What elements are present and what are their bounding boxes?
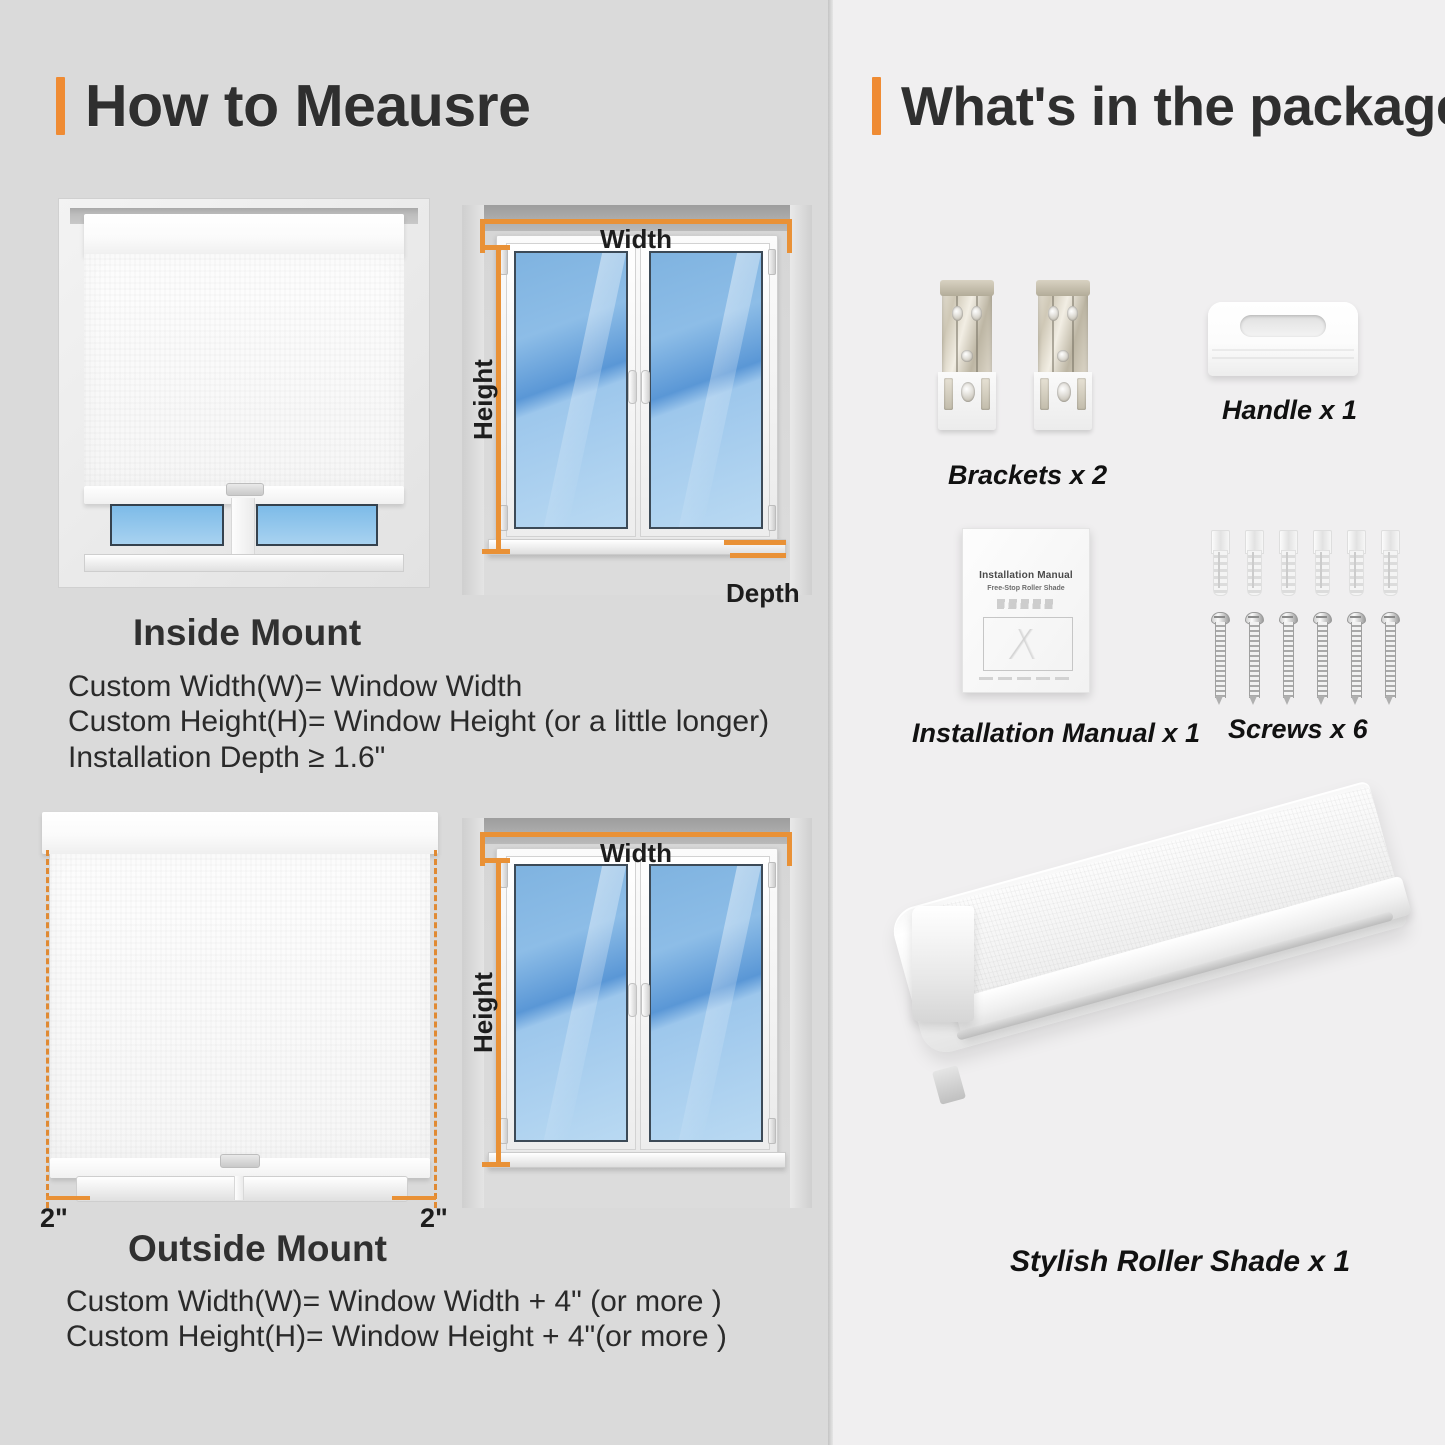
wall-anchor-icon xyxy=(1312,530,1331,594)
anchor-split xyxy=(1388,552,1390,588)
screw-shank xyxy=(1249,622,1260,698)
screw-slot xyxy=(1384,616,1395,618)
shade-fabric xyxy=(84,254,404,488)
brackets-label: Brackets x 2 xyxy=(948,460,1107,491)
bracket-slot xyxy=(944,378,953,410)
height-measure-cap-bottom xyxy=(482,549,510,554)
depth-label: Depth xyxy=(726,578,800,609)
screw-slot xyxy=(1350,616,1361,618)
installation-manual-label: Installation Manual x 1 xyxy=(912,718,1200,749)
height-measure-cap-top xyxy=(482,858,510,863)
anchor-split xyxy=(1286,552,1288,588)
handle-body xyxy=(1208,302,1358,376)
screw-shank xyxy=(1317,622,1328,698)
handle-label: Handle x 1 xyxy=(1222,395,1357,426)
screw-tip xyxy=(1249,696,1257,705)
glass-sheen xyxy=(544,866,626,1140)
handle-icon xyxy=(1208,302,1358,376)
window-hinge-top-left xyxy=(500,862,508,888)
anchor-split xyxy=(1320,552,1322,588)
glass-sheen xyxy=(679,253,761,527)
inside-mount-spec-2: Custom Height(H)= Window Height (or a li… xyxy=(68,705,769,739)
screw-slot xyxy=(1214,616,1225,618)
bracket-top-flange xyxy=(940,280,994,296)
anchor-split xyxy=(1252,552,1254,588)
bracket-icon xyxy=(938,280,996,430)
manual-cover-subtitle: Free-Stop Roller Shade xyxy=(963,585,1089,592)
bracket-slot xyxy=(1040,378,1049,410)
screw-icon xyxy=(1381,612,1398,704)
outside-mount-shade-illustration xyxy=(42,812,438,1202)
window-sill xyxy=(84,554,404,572)
window-handle-right xyxy=(641,983,650,1017)
window-hinge-top xyxy=(768,249,776,275)
window-glass-left xyxy=(514,251,628,529)
handle-grip-slot xyxy=(1240,315,1326,337)
screw-tip xyxy=(1385,696,1393,705)
package-heading: What's in the package xyxy=(872,74,1445,138)
screw-icon xyxy=(1313,612,1330,704)
manual-cover-sketch xyxy=(1001,629,1043,659)
anchor-body xyxy=(1247,550,1262,596)
screw-icon xyxy=(1279,612,1296,704)
window-sill xyxy=(488,1152,786,1168)
window-mullion xyxy=(231,498,255,558)
handle-groove xyxy=(1212,349,1354,351)
depth-measure-line-2 xyxy=(730,553,786,558)
bracket-hole xyxy=(1067,306,1078,321)
screw-icon xyxy=(1245,612,1262,704)
bracket-hole xyxy=(952,306,963,321)
wall-anchor-icon xyxy=(1278,530,1297,594)
width-measure-cap-right xyxy=(787,832,792,866)
screw-icon xyxy=(1347,612,1364,704)
outside-mount-guide-left xyxy=(46,850,49,1208)
bracket-slot xyxy=(981,378,990,410)
height-label: Height xyxy=(468,972,499,1053)
anchor-split xyxy=(1354,552,1356,588)
bracket-slot xyxy=(1077,378,1086,410)
panel-divider xyxy=(828,0,833,1445)
window-right-reveal xyxy=(790,205,812,595)
screw-tip xyxy=(1351,696,1359,705)
wall-anchor-icon xyxy=(1346,530,1365,594)
overhang-left-label: 2" xyxy=(40,1203,68,1234)
accent-bar-icon xyxy=(56,77,65,135)
height-measure-cap-top xyxy=(482,245,510,250)
inside-mount-spec-3: Installation Depth ≥ 1.6" xyxy=(68,741,385,775)
overhang-left-measure xyxy=(46,1196,90,1200)
window-glass-left xyxy=(514,864,628,1142)
outside-mount-guide-right xyxy=(434,850,437,1208)
inside-mount-window-diagram xyxy=(462,205,812,595)
accent-bar-icon xyxy=(872,77,881,135)
width-label: Width xyxy=(600,224,672,255)
shade-valance xyxy=(84,214,404,256)
screw-slot xyxy=(1316,616,1327,618)
overhang-right-label: 2" xyxy=(420,1203,448,1234)
window-glass-left xyxy=(110,504,224,546)
screw-shank xyxy=(1351,622,1362,698)
window-handle-right xyxy=(641,370,650,404)
screw-slot xyxy=(1282,616,1293,618)
shade-pull-handle xyxy=(226,483,264,496)
inside-mount-title: Inside Mount xyxy=(133,612,361,654)
bracket-hole xyxy=(1048,306,1059,321)
handle-groove xyxy=(1212,357,1354,359)
window-right-reveal xyxy=(790,818,812,1208)
wall-anchor-icon xyxy=(1244,530,1263,594)
screw-tip xyxy=(1283,696,1291,705)
bracket-top-flange xyxy=(1036,280,1090,296)
window-mullion xyxy=(234,1176,244,1200)
inside-mount-spec-1: Custom Width(W)= Window Width xyxy=(68,670,522,704)
width-measure-cap-right xyxy=(787,219,792,253)
wall-anchor-icon xyxy=(1380,530,1399,594)
roller-shade-tip xyxy=(932,1065,966,1105)
shade-fabric xyxy=(50,854,430,1160)
manual-cover-scribble xyxy=(997,599,1055,609)
window-hinge-bottom xyxy=(768,1118,776,1144)
anchor-split xyxy=(1218,552,1220,588)
infographic-root: How to Meausre What's in the package xyxy=(0,0,1445,1445)
window-hinge-bottom-left xyxy=(500,1118,508,1144)
anchor-body xyxy=(1315,550,1330,596)
window-hinge-top xyxy=(768,862,776,888)
glass-sheen xyxy=(544,253,626,527)
bracket-icon xyxy=(1034,280,1092,430)
screw-icon xyxy=(1211,612,1228,704)
screw-shank xyxy=(1385,622,1396,698)
window-hinge-bottom-left xyxy=(500,505,508,531)
screw-tip xyxy=(1215,696,1223,705)
screw-slot xyxy=(1248,616,1259,618)
window-hinge-bottom xyxy=(768,505,776,531)
screw-shank xyxy=(1215,622,1226,698)
anchor-body xyxy=(1383,550,1398,596)
bracket-hole xyxy=(1057,350,1069,362)
outside-mount-title: Outside Mount xyxy=(128,1228,387,1270)
wall-anchor-icon xyxy=(1210,530,1229,594)
width-label: Width xyxy=(600,838,672,869)
manual-cover-footer xyxy=(979,677,1073,680)
window-glass-right xyxy=(256,504,378,546)
bracket-hole xyxy=(971,306,982,321)
outside-mount-spec-2: Custom Height(H)= Window Height + 4"(or … xyxy=(66,1320,727,1354)
how-to-measure-heading: How to Meausre xyxy=(56,72,530,140)
screws-label: Screws x 6 xyxy=(1228,714,1368,745)
shade-pull-handle xyxy=(220,1154,260,1168)
height-label: Height xyxy=(468,359,499,440)
screw-shank xyxy=(1283,622,1294,698)
depth-measure-line xyxy=(724,540,786,545)
outside-mount-spec-1: Custom Width(W)= Window Width + 4" (or m… xyxy=(66,1285,722,1319)
window-glass-right xyxy=(649,251,763,529)
window-hinge-top-left xyxy=(500,249,508,275)
width-measure-line xyxy=(480,832,792,837)
inside-mount-shade-illustration xyxy=(58,198,430,588)
bracket-center-hole xyxy=(1057,382,1071,402)
bracket-hole xyxy=(961,350,973,362)
roller-shade-end-cap xyxy=(912,906,974,1022)
screw-tip xyxy=(1317,696,1325,705)
roller-shade-label: Stylish Roller Shade x 1 xyxy=(1010,1245,1350,1279)
manual-cover-title: Installation Manual xyxy=(963,570,1089,581)
roller-shade-icon xyxy=(912,880,1432,1220)
window-glass-right xyxy=(649,864,763,1142)
overhang-right-measure xyxy=(392,1196,436,1200)
glass-sheen xyxy=(679,866,761,1140)
anchor-body xyxy=(1281,550,1296,596)
package-title: What's in the package xyxy=(901,74,1445,138)
anchor-body xyxy=(1349,550,1364,596)
height-measure-cap-bottom xyxy=(482,1162,510,1167)
window-handle-left xyxy=(628,370,637,404)
shade-valance xyxy=(42,812,438,854)
manual-icon: Installation Manual Free-Stop Roller Sha… xyxy=(962,528,1090,693)
window-handle-left xyxy=(628,983,637,1017)
bracket-center-hole xyxy=(961,382,975,402)
how-to-measure-title: How to Meausre xyxy=(85,72,530,140)
anchor-body xyxy=(1213,550,1228,596)
outside-mount-window-diagram xyxy=(462,818,812,1208)
